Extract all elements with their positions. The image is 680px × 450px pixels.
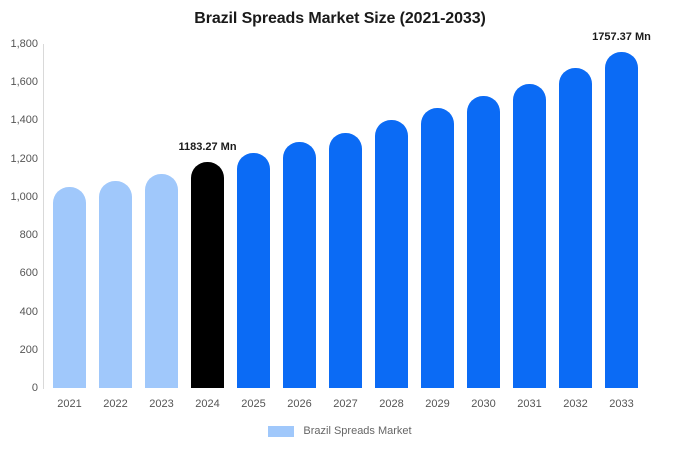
bar-2027[interactable] <box>329 44 362 388</box>
bar-rect-2031[interactable] <box>513 84 546 388</box>
bar-2023[interactable] <box>145 44 178 388</box>
bar-rect-2028[interactable] <box>375 120 408 388</box>
y-tick-label: 0 <box>2 382 38 394</box>
y-tick-label: 1,000 <box>2 191 38 203</box>
bar-rect-2023[interactable] <box>145 174 178 388</box>
legend-swatch-brazil-spreads-market <box>268 426 294 437</box>
y-tick-label: 1,600 <box>2 76 38 88</box>
bar-2026[interactable] <box>283 44 316 388</box>
y-tick-label: 1,800 <box>2 38 38 50</box>
y-tick-label: 400 <box>2 306 38 318</box>
y-axis-tick-labels: 02004006008001,0001,2001,4001,6001,800 <box>0 0 38 450</box>
bar-2033[interactable] <box>605 44 638 388</box>
bar-rect-2021[interactable] <box>53 187 86 388</box>
plot-area <box>43 44 680 388</box>
bar-rect-2029[interactable] <box>421 108 454 388</box>
bar-2022[interactable] <box>99 44 132 388</box>
y-tick-label: 600 <box>2 267 38 279</box>
legend-label-brazil-spreads-market: Brazil Spreads Market <box>303 425 411 437</box>
bar-2025[interactable] <box>237 44 270 388</box>
bar-value-label-2033: 1757.37 Mn <box>592 31 651 43</box>
bar-2031[interactable] <box>513 44 546 388</box>
bar-rect-2024[interactable] <box>191 162 224 388</box>
y-tick-label: 1,200 <box>2 153 38 165</box>
bar-rect-2030[interactable] <box>467 96 500 388</box>
bar-chart: Brazil Spreads Market Size (2021-2033) 0… <box>0 0 680 450</box>
bar-2029[interactable] <box>421 44 454 388</box>
bar-value-label-2024: 1183.27 Mn <box>178 141 236 153</box>
bar-2030[interactable] <box>467 44 500 388</box>
y-tick-label: 200 <box>2 344 38 356</box>
bar-rect-2026[interactable] <box>283 142 316 388</box>
bar-2028[interactable] <box>375 44 408 388</box>
bar-2024[interactable] <box>191 44 224 388</box>
bar-rect-2022[interactable] <box>99 181 132 388</box>
y-tick-label: 800 <box>2 229 38 241</box>
y-tick-label: 1,400 <box>2 114 38 126</box>
bar-rect-2025[interactable] <box>237 153 270 388</box>
bar-2032[interactable] <box>559 44 592 388</box>
x-tick-label-2033: 2033 <box>592 398 652 410</box>
bar-rect-2032[interactable] <box>559 68 592 388</box>
bar-rect-2033[interactable] <box>605 52 638 388</box>
chart-legend: Brazil Spreads Market <box>0 425 680 437</box>
bar-rect-2027[interactable] <box>329 133 362 388</box>
bar-2021[interactable] <box>53 44 86 388</box>
chart-title: Brazil Spreads Market Size (2021-2033) <box>0 10 680 28</box>
